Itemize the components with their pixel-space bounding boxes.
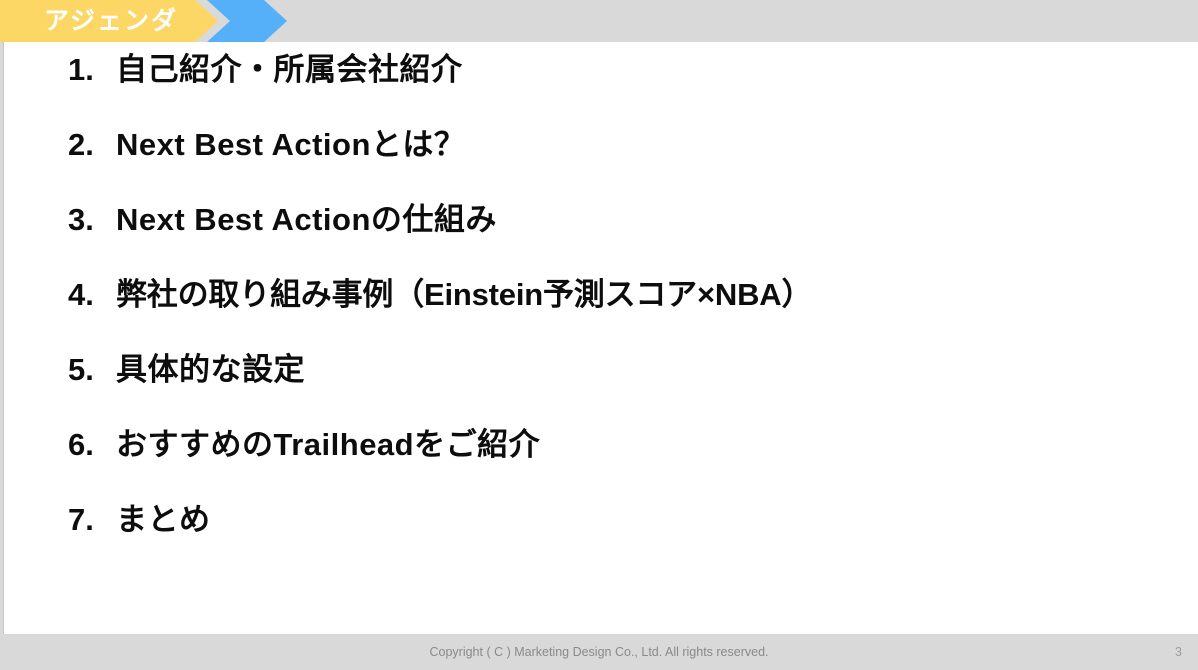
slide-footer: Copyright ( C ) Marketing Design Co., Lt… — [0, 634, 1198, 670]
agenda-item-label: 自己紹介・所属会社紹介 — [116, 44, 463, 89]
agenda-item-4: 4. 弊社の取り組み事例（Einstein予測スコア×NBA） — [0, 269, 1198, 344]
agenda-item-number: 1. — [68, 52, 98, 88]
page-title: アジェンダ — [44, 0, 178, 42]
blue-chevron-shape — [207, 0, 287, 42]
agenda-list: 1. 自己紹介・所属会社紹介 2. Next Best Actionとは？ 3.… — [0, 42, 1198, 569]
agenda-item-label: Next Best Actionとは？ — [116, 119, 465, 164]
agenda-item-number: 7. — [68, 502, 98, 538]
agenda-item-number: 6. — [68, 427, 98, 463]
agenda-item-label: 弊社の取り組み事例（Einstein予測スコア×NBA） — [116, 269, 812, 314]
slide-header-banner: アジェンダ — [0, 0, 1198, 42]
agenda-item-number: 4. — [68, 277, 98, 313]
agenda-item-number: 2. — [68, 127, 98, 163]
agenda-item-2: 2. Next Best Actionとは？ — [0, 119, 1198, 194]
agenda-item-5: 5. 具体的な設定 — [0, 344, 1198, 419]
agenda-item-label: おすすめのTrailheadをご紹介 — [116, 419, 540, 464]
agenda-item-number: 3. — [68, 202, 98, 238]
agenda-item-1: 1. 自己紹介・所属会社紹介 — [0, 44, 1198, 119]
agenda-item-number: 5. — [68, 352, 98, 388]
agenda-item-label: Next Best Actionの仕組み — [116, 194, 497, 239]
agenda-item-7: 7. まとめ — [0, 494, 1198, 569]
agenda-item-label: 具体的な設定 — [116, 344, 305, 389]
slide-canvas: アジェンダ 1. 自己紹介・所属会社紹介 2. Next Best Action… — [0, 0, 1198, 670]
agenda-item-6: 6. おすすめのTrailheadをご紹介 — [0, 419, 1198, 494]
copyright-text: Copyright ( C ) Marketing Design Co., Lt… — [0, 634, 1198, 670]
page-number: 3 — [1175, 634, 1182, 670]
agenda-item-3: 3. Next Best Actionの仕組み — [0, 194, 1198, 269]
agenda-item-label: まとめ — [116, 494, 211, 539]
